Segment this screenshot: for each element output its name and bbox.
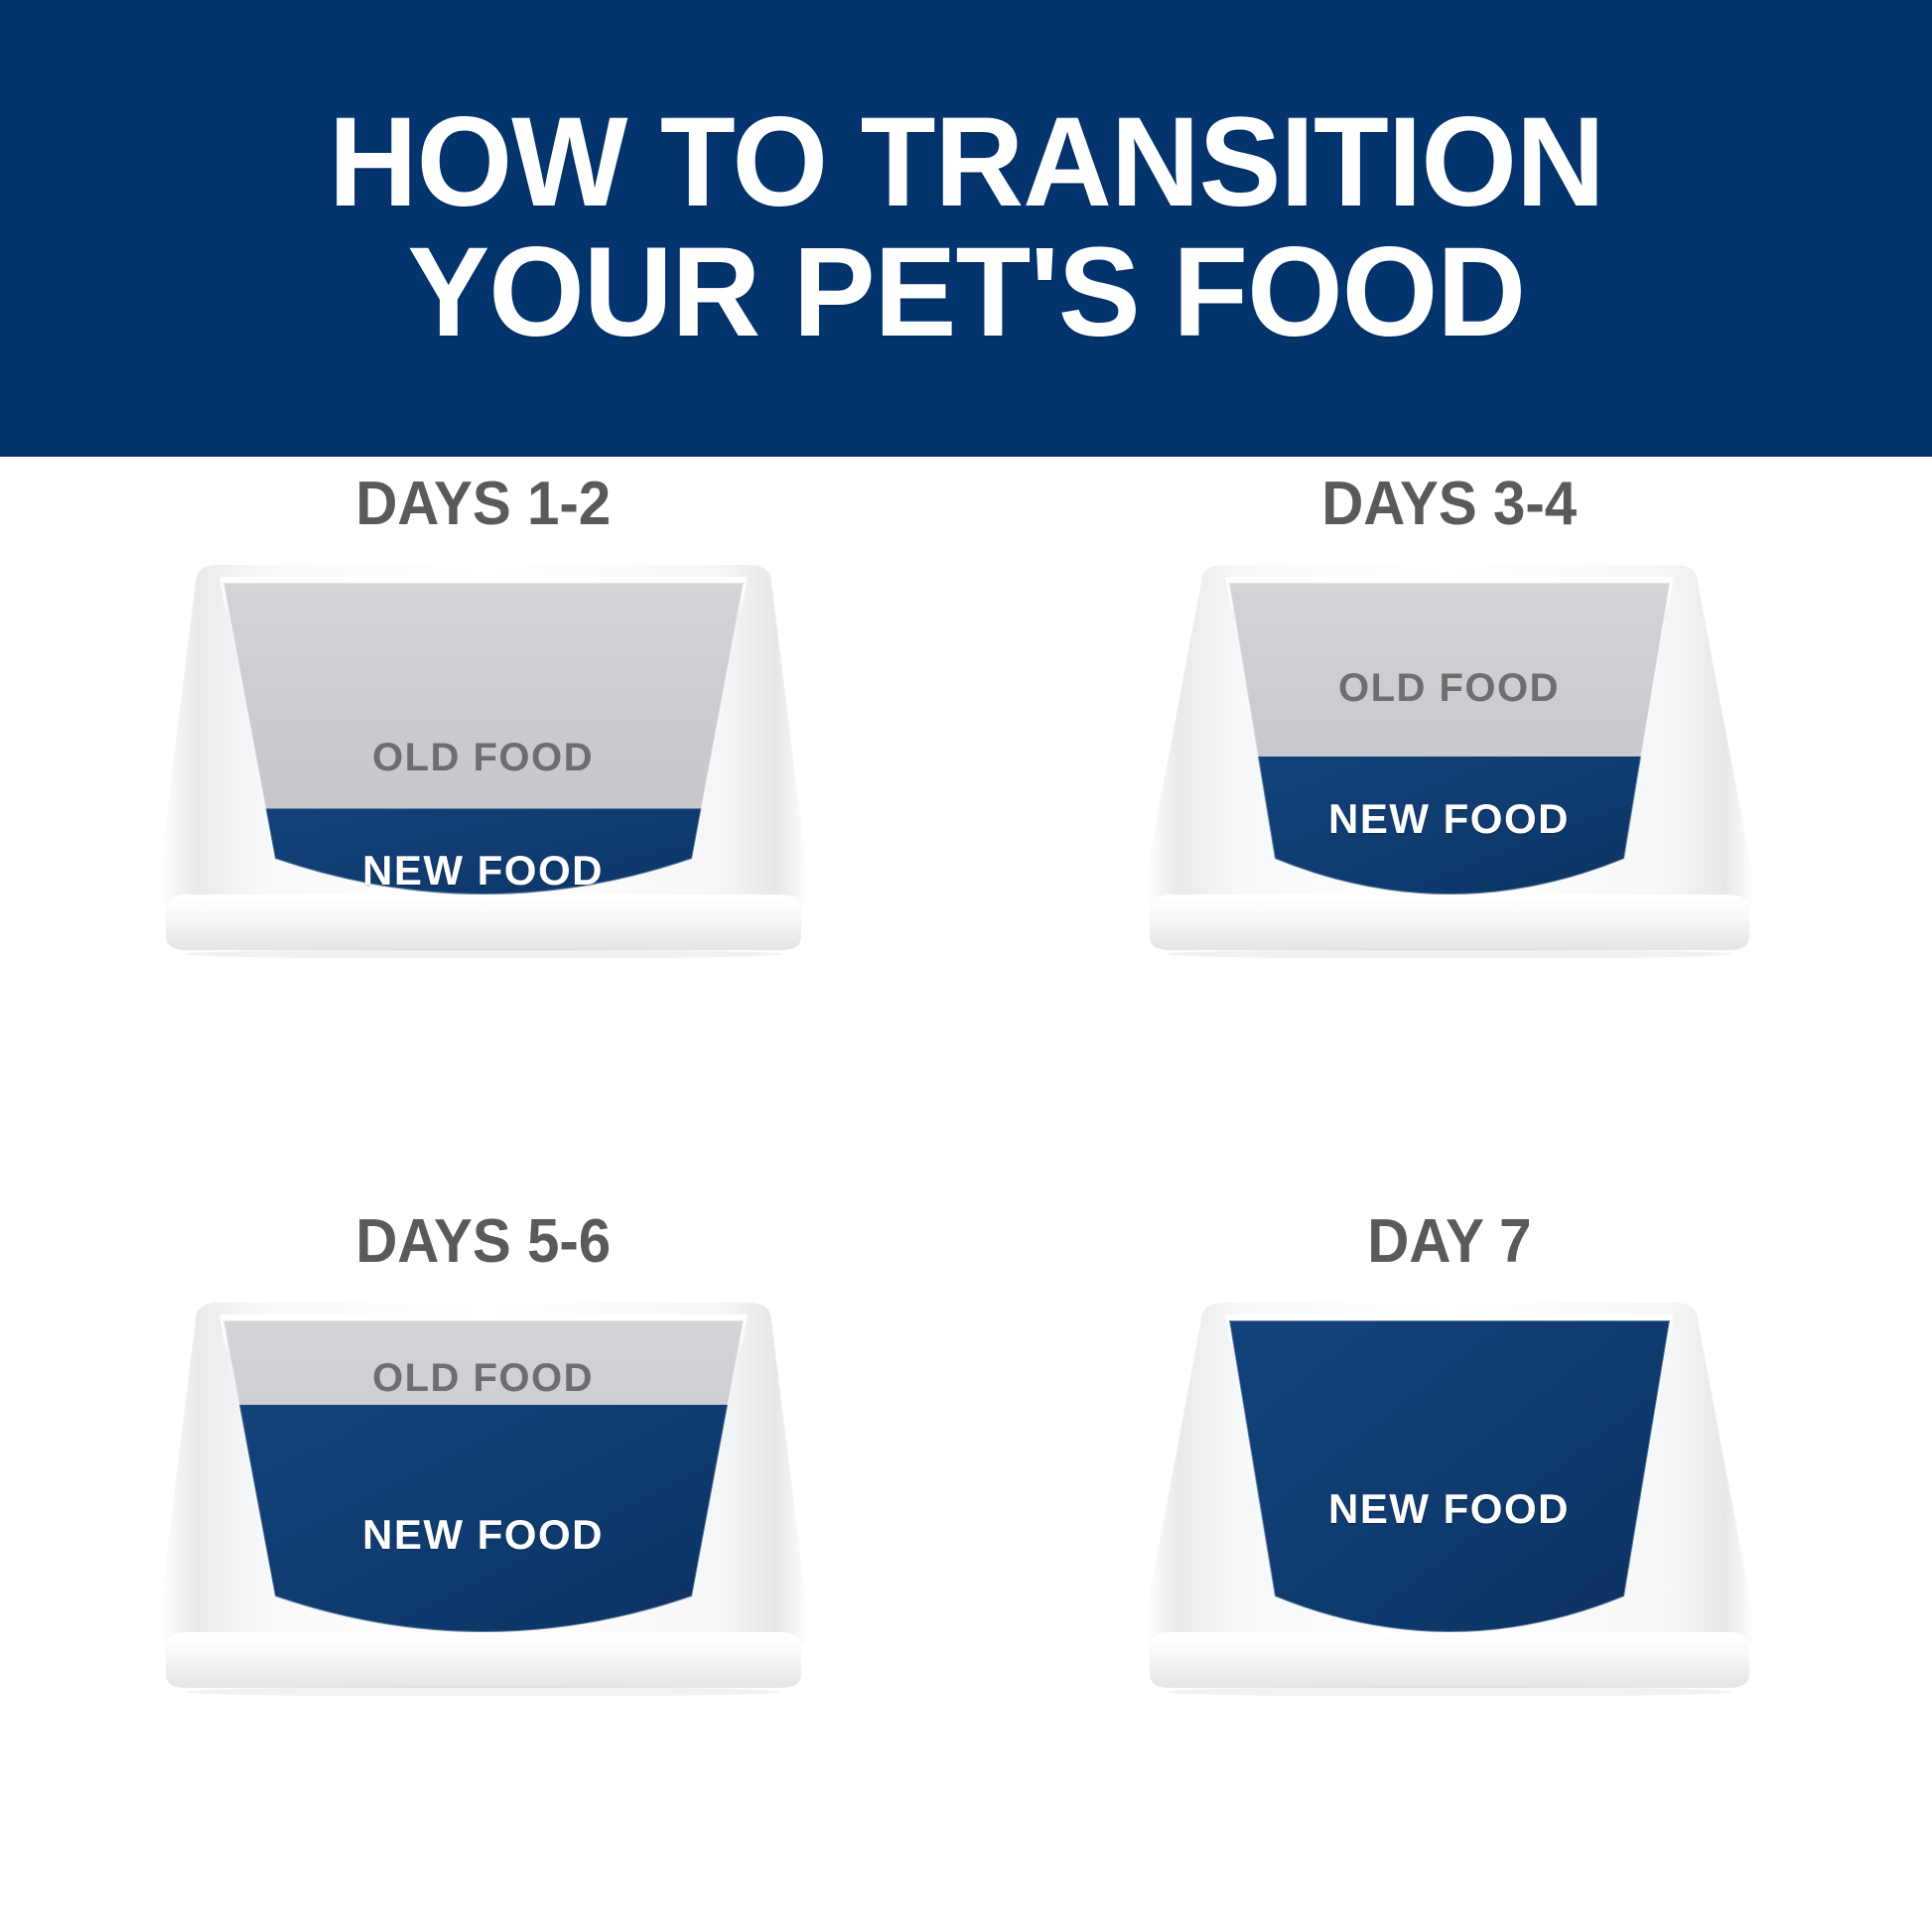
bowl-illustration-days-5-6 — [136, 1299, 831, 1696]
step-title-day-7: DAY 7 — [1367, 1206, 1531, 1277]
step-card-days-3-4: DAYS 3-4 — [966, 457, 1932, 1194]
bowl-day-7: NEW FOOD — [1122, 1299, 1777, 1696]
bowl-illustration-day-7 — [1122, 1299, 1777, 1696]
page-title-line-2: YOUR PET'S FOOD — [407, 228, 1525, 358]
header-banner: HOW TO TRANSITION YOUR PET'S FOOD — [0, 0, 1932, 457]
step-card-days-5-6: DAYS 5-6 — [0, 1194, 966, 1932]
step-title-days-1-2: DAYS 1-2 — [355, 469, 611, 539]
step-card-day-7: DAY 7 — [966, 1194, 1932, 1932]
step-title-days-5-6: DAYS 5-6 — [355, 1206, 611, 1277]
steps-grid: DAYS 1-2 — [0, 457, 1932, 1932]
step-title-days-3-4: DAYS 3-4 — [1321, 469, 1577, 539]
step-card-days-1-2: DAYS 1-2 — [0, 457, 966, 1194]
bowl-days-3-4: OLD FOOD NEW FOOD — [1122, 561, 1777, 958]
bowl-illustration-days-3-4 — [1122, 561, 1777, 958]
infographic-page: HOW TO TRANSITION YOUR PET'S FOOD DAYS 1… — [0, 0, 1932, 1932]
page-title-line-1: HOW TO TRANSITION — [329, 98, 1604, 228]
bowl-days-5-6: OLD FOOD NEW FOOD — [136, 1299, 831, 1696]
bowl-illustration-days-1-2 — [136, 561, 831, 958]
bowl-days-1-2: OLD FOOD NEW FOOD — [136, 561, 831, 958]
